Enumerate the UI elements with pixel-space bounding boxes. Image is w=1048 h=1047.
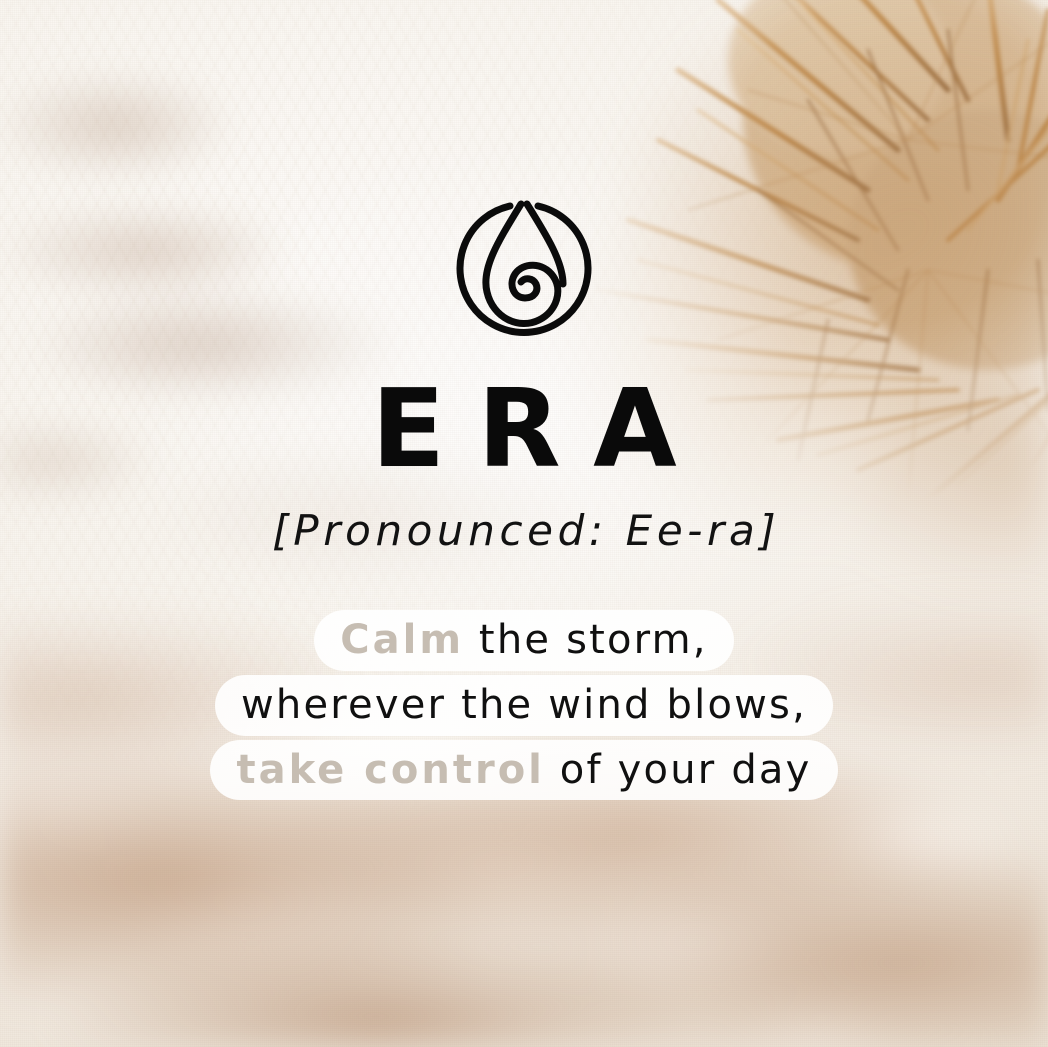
- tagline-line-2-text: wherever the wind blows,: [241, 682, 807, 728]
- wordmark-era: ERA: [339, 376, 709, 484]
- tagline-line-1-emphasis: Calm: [340, 617, 464, 663]
- tagline-line-1-rest: the storm,: [464, 617, 708, 663]
- pronunciation-guide: [Pronounced: Ee-ra]: [268, 510, 781, 552]
- tagline-line-2: wherever the wind blows,: [215, 675, 833, 736]
- brand-lockup: ERA [Pronounced: Ee-ra] Calm the storm, …: [0, 0, 1048, 1047]
- tagline-line-3: take control of your day: [210, 740, 837, 801]
- tagline-line-3-rest: of your day: [545, 747, 812, 793]
- tagline-line-1: Calm the storm,: [314, 610, 733, 671]
- spiral-droplet-circle-logo-icon: [453, 196, 595, 342]
- brand-card-canvas: ERA [Pronounced: Ee-ra] Calm the storm, …: [0, 0, 1048, 1047]
- tagline-line-3-emphasis: take control: [236, 747, 544, 793]
- tagline-block: Calm the storm, wherever the wind blows,…: [210, 610, 837, 800]
